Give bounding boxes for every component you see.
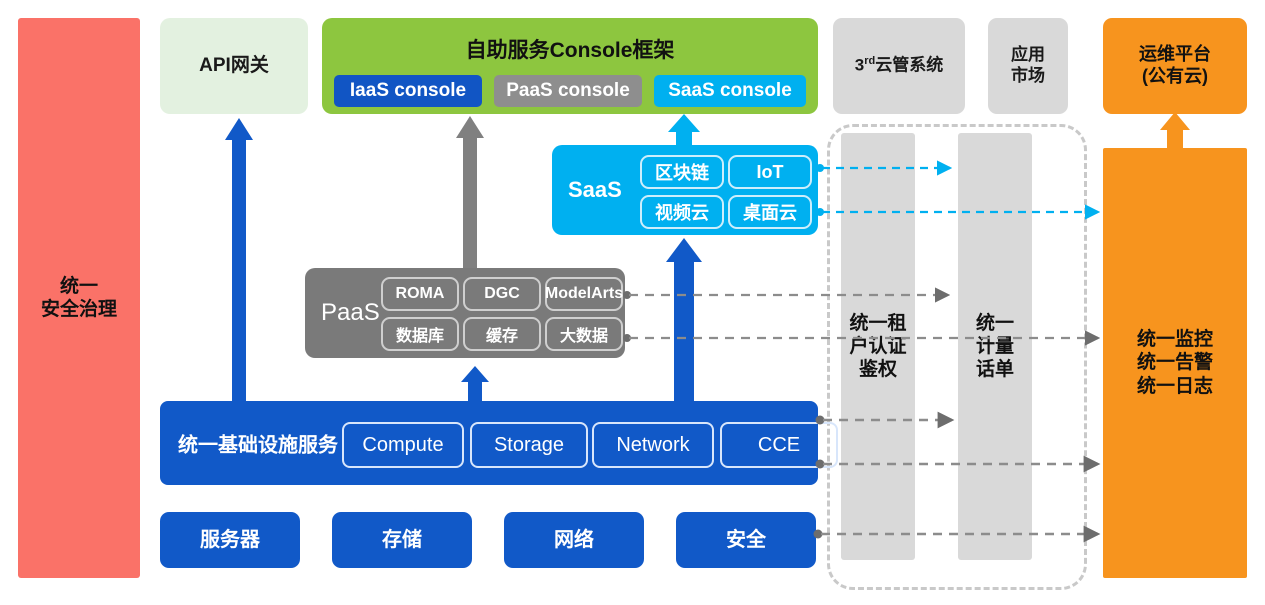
paas-console-chip[interactable]: PaaS console: [494, 75, 642, 107]
unified-auth-line2: 户认证: [849, 335, 906, 358]
third-party-suffix: 云管系统: [875, 56, 943, 75]
ops-monitoring-line3: 统一日志: [1137, 375, 1213, 398]
infra-item-cce[interactable]: CCE: [720, 422, 838, 468]
unified-auth-line3: 鉴权: [859, 358, 897, 381]
paas-item-roma-label: ROMA: [396, 285, 445, 303]
saas-item-blockchain[interactable]: 区块链: [640, 155, 724, 189]
unified-auth-line1: 统一租: [849, 312, 906, 335]
saas-item-iot-label: IoT: [757, 162, 784, 183]
saas-panel: SaaS 区块链 IoT 视频云 桌面云: [552, 145, 818, 235]
ops-monitoring-line1: 统一监控: [1137, 328, 1213, 351]
unified-billing-column[interactable]: 统一 计量 话单: [958, 133, 1032, 560]
paas-item-cache-label: 缓存: [486, 322, 518, 346]
infra-item-compute[interactable]: Compute: [342, 422, 464, 468]
paas-console-label: PaaS console: [506, 80, 630, 102]
ops-platform-line2: (公有云): [1142, 66, 1208, 88]
unified-billing-line2: 计量: [976, 335, 1014, 358]
security-governance-line2: 安全治理: [41, 298, 117, 321]
saas-item-iot[interactable]: IoT: [728, 155, 812, 189]
ops-monitoring-line2: 统一告警: [1137, 351, 1213, 374]
bottom-box-network-label: 网络: [554, 528, 594, 552]
console-framework-panel: 自助服务Console框架 IaaS console PaaS console …: [322, 18, 818, 114]
third-party-cloud-mgmt-label: 3rd云管系统: [855, 55, 943, 76]
app-market-box[interactable]: 应用 市场: [988, 18, 1068, 114]
bottom-box-storage[interactable]: 存储: [332, 512, 472, 568]
iaas-console-label: IaaS console: [350, 80, 466, 102]
api-gateway-label: API网关: [199, 54, 269, 77]
paas-item-modelarts-label: ModelArts: [545, 285, 623, 303]
saas-item-desktop-cloud[interactable]: 桌面云: [728, 195, 812, 229]
unified-infrastructure-label: 统一基础设施服务: [178, 429, 338, 458]
arrow-paas-to-console: [456, 116, 484, 268]
paas-item-bigdata[interactable]: 大数据: [545, 317, 623, 351]
console-framework-title: 自助服务Console框架: [322, 34, 818, 64]
paas-item-cache[interactable]: 缓存: [463, 317, 541, 351]
paas-item-database-label: 数据库: [396, 322, 444, 346]
app-market-line1: 应用: [1011, 45, 1045, 66]
bottom-box-security-label: 安全: [726, 528, 766, 552]
infra-item-compute-label: Compute: [362, 434, 443, 457]
paas-item-dgc-label: DGC: [484, 285, 520, 303]
ops-monitoring-column[interactable]: 统一监控 统一告警 统一日志: [1103, 148, 1247, 578]
paas-item-roma[interactable]: ROMA: [381, 277, 459, 311]
security-governance-panel[interactable]: 统一 安全治理: [18, 18, 140, 578]
unified-auth-column[interactable]: 统一租 户认证 鉴权: [841, 133, 915, 560]
ops-platform-line1: 运维平台: [1139, 44, 1211, 66]
arrow-infra-to-saas: [666, 238, 702, 401]
saas-item-desktop-cloud-label: 桌面云: [743, 199, 797, 225]
saas-panel-label: SaaS: [568, 177, 622, 203]
security-governance-line1: 统一: [60, 275, 98, 298]
bottom-box-server-label: 服务器: [200, 528, 260, 552]
infra-item-network[interactable]: Network: [592, 422, 714, 468]
bottom-box-storage-label: 存储: [382, 528, 422, 552]
infra-item-cce-label: CCE: [758, 434, 800, 457]
infra-item-storage[interactable]: Storage: [470, 422, 588, 468]
arrow-infra-to-api-gateway: [225, 118, 253, 401]
api-gateway-box[interactable]: API网关: [160, 18, 308, 114]
iaas-console-chip[interactable]: IaaS console: [334, 75, 482, 107]
arrow-infra-to-paas: [461, 366, 489, 402]
third-party-prefix: 3: [855, 56, 864, 75]
ops-platform-box[interactable]: 运维平台 (公有云): [1103, 18, 1247, 114]
unified-billing-line1: 统一: [976, 312, 1014, 335]
saas-console-label: SaaS console: [668, 80, 792, 102]
paas-panel-label: PaaS: [321, 299, 380, 327]
saas-item-video-cloud[interactable]: 视频云: [640, 195, 724, 229]
paas-panel: PaaS ROMA DGC ModelArts 数据库 缓存 大数据: [305, 268, 625, 358]
paas-item-modelarts[interactable]: ModelArts: [545, 277, 623, 311]
bottom-box-server[interactable]: 服务器: [160, 512, 300, 568]
app-market-line2: 市场: [1011, 66, 1045, 87]
saas-console-chip[interactable]: SaaS console: [654, 75, 806, 107]
bottom-box-security[interactable]: 安全: [676, 512, 816, 568]
paas-item-database[interactable]: 数据库: [381, 317, 459, 351]
arrow-to-ops-platform: [1160, 112, 1190, 150]
third-party-ordinal-sup: rd: [864, 55, 875, 67]
infra-item-storage-label: Storage: [494, 434, 564, 457]
paas-item-bigdata-label: 大数据: [560, 322, 608, 346]
infra-item-network-label: Network: [616, 434, 689, 457]
arrow-saas-to-console: [668, 114, 700, 147]
third-party-cloud-mgmt-box[interactable]: 3rd云管系统: [833, 18, 965, 114]
unified-infrastructure-bar: 统一基础设施服务 Compute Storage Network CCE: [160, 401, 818, 485]
bottom-box-network[interactable]: 网络: [504, 512, 644, 568]
saas-item-blockchain-label: 区块链: [655, 159, 709, 185]
unified-billing-line3: 话单: [976, 358, 1014, 381]
paas-item-dgc[interactable]: DGC: [463, 277, 541, 311]
architecture-diagram: 统一 安全治理 API网关 自助服务Console框架 IaaS console…: [0, 0, 1265, 605]
saas-item-video-cloud-label: 视频云: [655, 199, 709, 225]
